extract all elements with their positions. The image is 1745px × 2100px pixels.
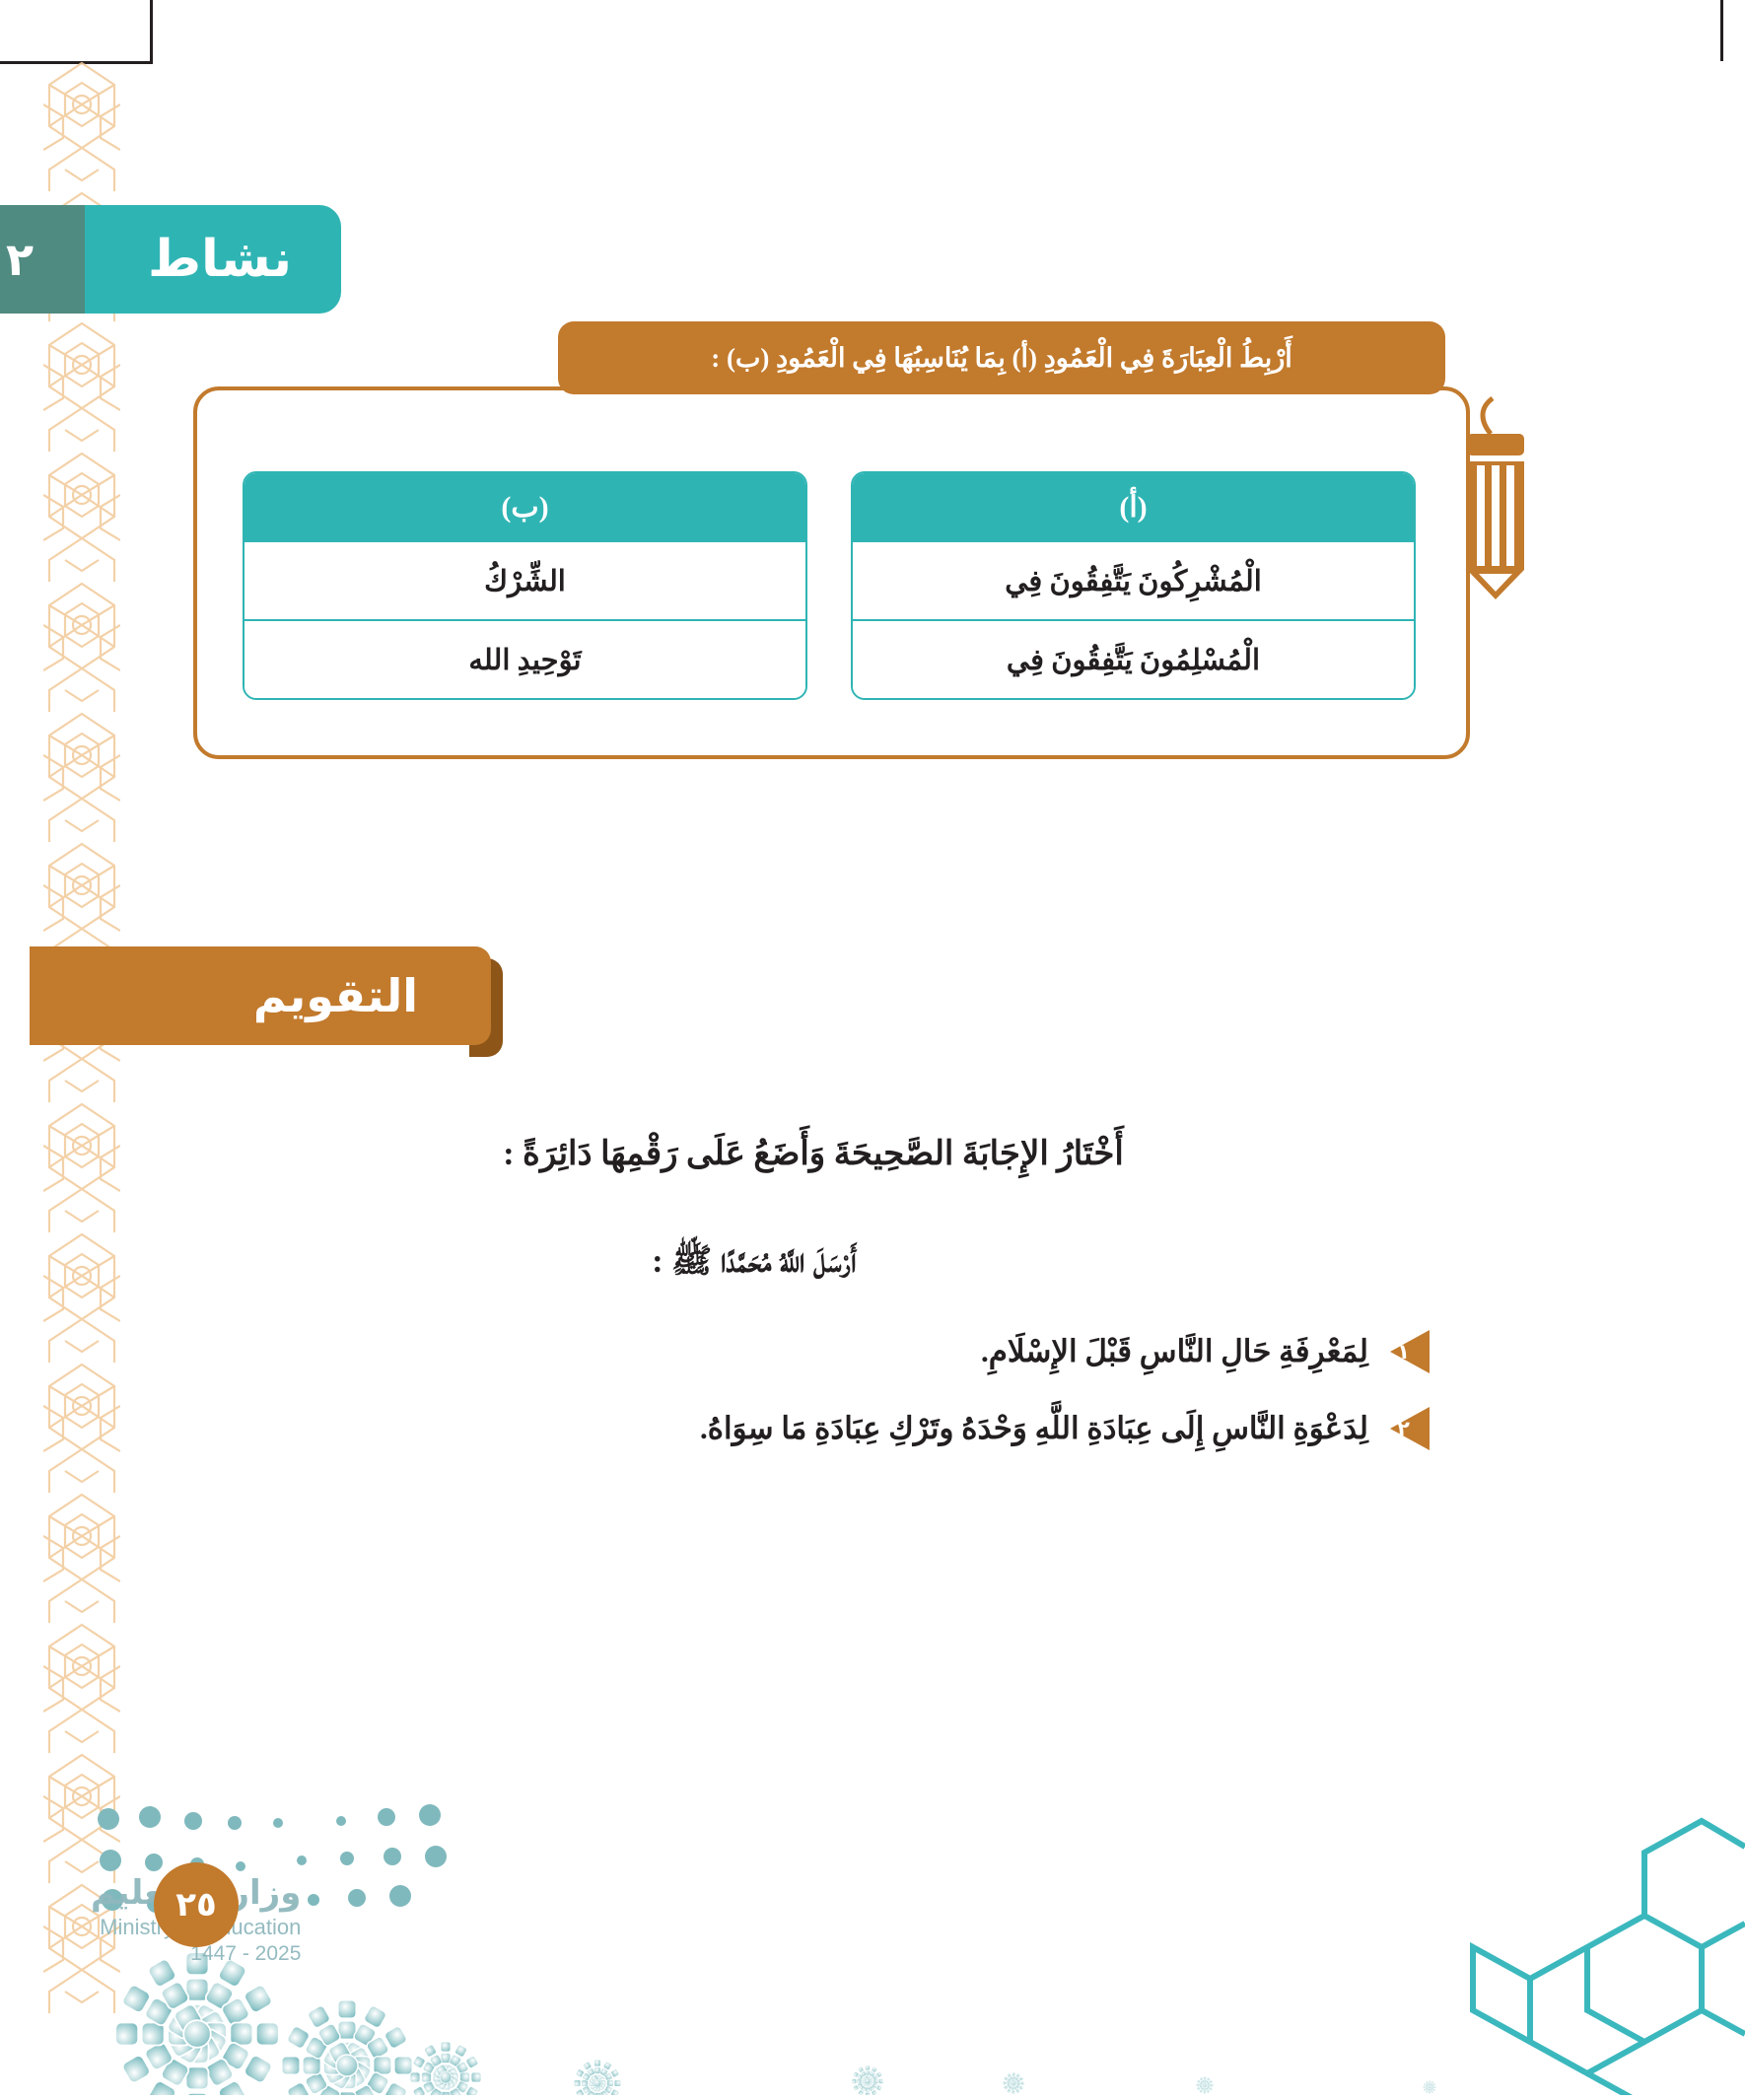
table-row[interactable]: تَوْحِيدِ الله bbox=[244, 619, 805, 698]
pencil-icon bbox=[1428, 394, 1566, 601]
crop-mark-top-right bbox=[1720, 0, 1745, 61]
evaluation-banner-title: التقويم bbox=[30, 946, 491, 1045]
evaluation-section-banner: التقويم bbox=[30, 946, 491, 1045]
evaluation-prompt: أَخْتَارُ الإِجَابَةَ الصَّحِيحَةَ وَأَض… bbox=[118, 1134, 1568, 1173]
activity-badge-number: ٢ bbox=[0, 205, 85, 314]
matching-column-a: (أ) الْمُشْرِكُونَ يَتَّفِقُونَ فِي الْم… bbox=[851, 471, 1416, 700]
column-b-header: (ب) bbox=[244, 473, 805, 540]
table-row[interactable]: الْمُسْلِمُونَ يَتَّفِقُونَ فِي bbox=[853, 619, 1414, 698]
table-row[interactable]: الشِّرْكُ bbox=[244, 540, 805, 619]
activity-instruction: أَرْبِطُ الْعِبَارَةَ فِي الْعَمُودِ (أ)… bbox=[558, 321, 1445, 394]
option-number: ٢ bbox=[1397, 1417, 1423, 1441]
activity-badge: نشاط ٢ bbox=[0, 205, 341, 314]
option-text: لِمَعْرِفَةِ حَالِ النَّاسِ قَبْلَ الإِس… bbox=[981, 1334, 1368, 1369]
column-a-header: (أ) bbox=[853, 473, 1414, 540]
activity-badge-label: نشاط bbox=[85, 205, 341, 314]
option-text: لِدَعْوَةِ النَّاسِ إِلَى عِبَادَةِ اللَ… bbox=[700, 1411, 1368, 1446]
question-stem: أَرْسَلَ اللَّهُ مُحَمَّدًا ﷺ : bbox=[118, 1240, 1568, 1289]
answer-option-1[interactable]: ١ لِمَعْرِفَةِ حَالِ النَّاسِ قَبْلَ الإ… bbox=[118, 1330, 1568, 1373]
page-number-badge: ٢٥ bbox=[154, 1862, 239, 1947]
matching-table: (أ) الْمُشْرِكُونَ يَتَّفِقُونَ فِي الْم… bbox=[243, 471, 1416, 700]
option-bullet-triangle-icon[interactable]: ٢ bbox=[1390, 1407, 1430, 1450]
option-bullet-triangle-icon[interactable]: ١ bbox=[1390, 1330, 1430, 1373]
evaluation-body: أَخْتَارُ الإِجَابَةَ الصَّحِيحَةَ وَأَض… bbox=[118, 1134, 1568, 1484]
option-number: ١ bbox=[1397, 1340, 1423, 1365]
answer-option-2[interactable]: ٢ لِدَعْوَةِ النَّاسِ إِلَى عِبَادَةِ ال… bbox=[118, 1407, 1568, 1450]
crop-mark-top-left bbox=[0, 0, 153, 64]
matching-column-b: (ب) الشِّرْكُ تَوْحِيدِ الله bbox=[243, 471, 807, 700]
table-row[interactable]: الْمُشْرِكُونَ يَتَّفِقُونَ فِي bbox=[853, 540, 1414, 619]
